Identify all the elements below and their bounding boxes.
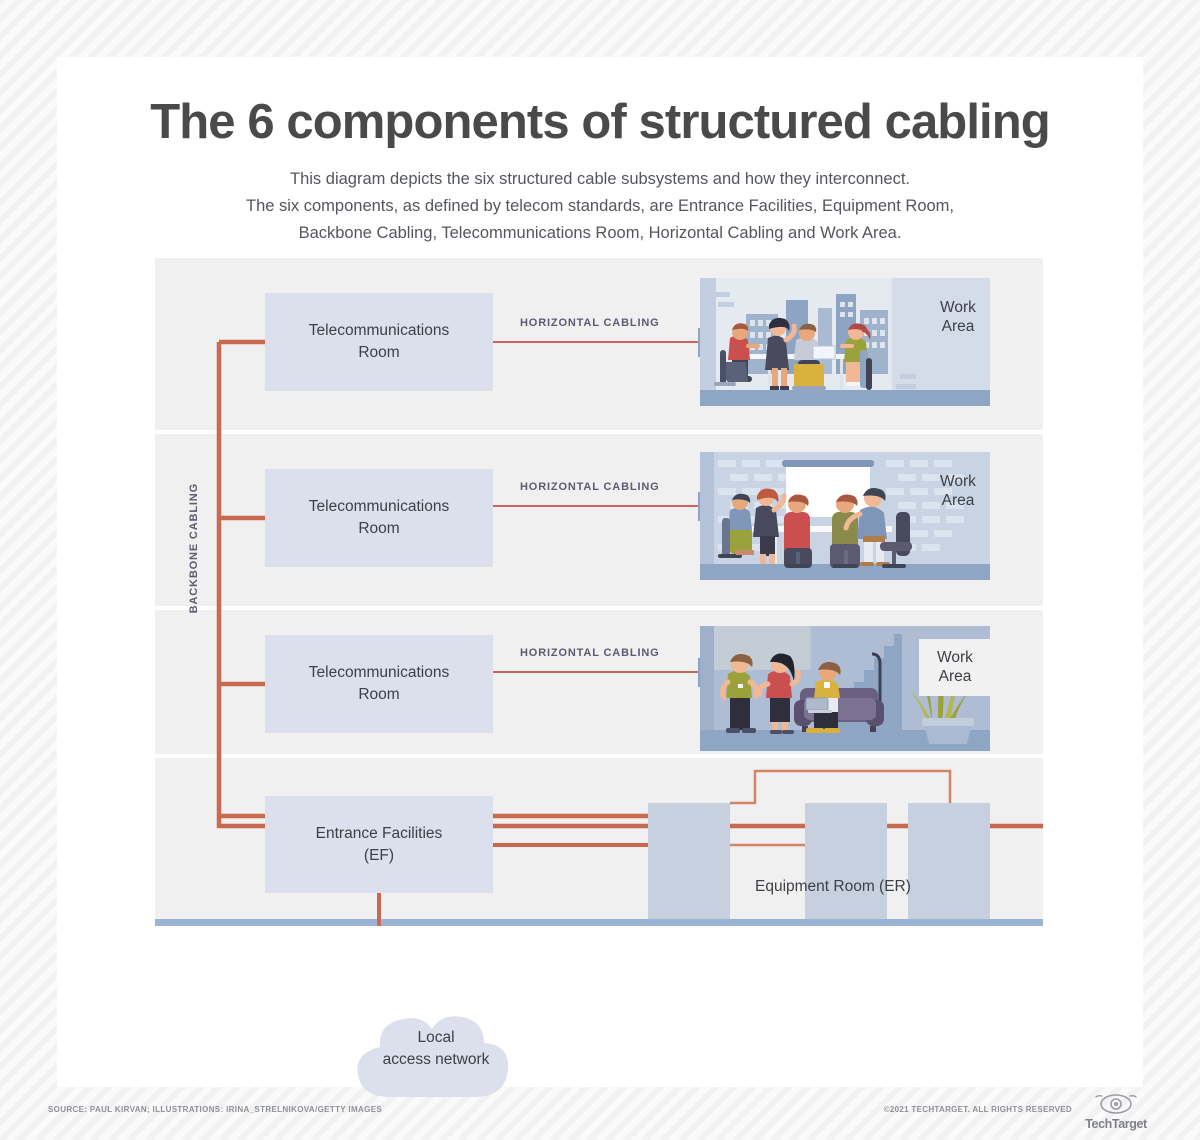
horizontal-cabling-label-3: HORIZONTAL CABLING [520,647,660,659]
page-title: The 6 components of structured cabling [57,97,1143,148]
subtitle-line-2: The six components, as defined by teleco… [57,193,1143,220]
work-area-label-1: Work Area [925,299,991,336]
entrance-facilities-box[interactable]: Entrance Facilities (EF) [265,796,493,893]
work-area-illustration-2 [700,452,990,580]
telecommunications-room-label-1: Telecommunications Room [309,320,449,364]
techtarget-logo[interactable]: TechTarget [1080,1092,1152,1132]
subtitle-line-3: Backbone Cabling, Telecommunications Roo… [57,220,1143,247]
work-area-label-2: Work Area [925,473,991,510]
work-area-illustration-1 [700,278,990,406]
copyright-notice: ©2021 TECHTARGET. ALL RIGHTS RESERVED [884,1105,1072,1114]
horizontal-cabling-label-2: HORIZONTAL CABLING [520,481,660,493]
backbone-cable-riser [219,342,1043,826]
server-rack-3 [908,803,990,919]
subtitle-line-1: This diagram depicts the six structured … [57,166,1143,193]
footer: SOURCE: PAUL KIRVAN; ILLUSTRATIONS: IRIN… [0,1087,1200,1140]
telecommunications-room-box-1[interactable]: Telecommunications Room [265,293,493,391]
work-area-label-3: Work Area [919,639,991,696]
header: The 6 components of structured cabling T… [57,57,1143,247]
techtarget-wordmark: TechTarget [1080,1117,1152,1131]
source-credit: SOURCE: PAUL KIRVAN; ILLUSTRATIONS: IRIN… [48,1105,382,1114]
server-rack-2 [805,803,887,919]
backbone-cabling-label: BACKBONE CABLING [188,483,200,613]
server-rack-1 [648,803,730,919]
article-card: The 6 components of structured cabling T… [57,57,1143,1087]
telecommunications-room-box-3[interactable]: Telecommunications Room [265,635,493,733]
subtitle: This diagram depicts the six structured … [57,166,1143,246]
horizontal-cabling-label-1: HORIZONTAL CABLING [520,317,660,329]
telecommunications-room-box-2[interactable]: Telecommunications Room [265,469,493,567]
cloud-label: Local access network [346,1027,526,1071]
local-access-network-cloud[interactable]: Local access network [346,987,526,1102]
eye-icon [1080,1092,1152,1116]
structured-cabling-diagram: Telecommunications Room Telecommunicatio… [155,258,1043,928]
equipment-room-label: Equipment Room (ER) [755,878,911,896]
rack-link-2 [730,771,950,803]
entrance-facilities-label: Entrance Facilities (EF) [316,823,443,867]
telecommunications-room-label-3: Telecommunications Room [309,662,449,706]
telecommunications-room-label-2: Telecommunications Room [309,496,449,540]
